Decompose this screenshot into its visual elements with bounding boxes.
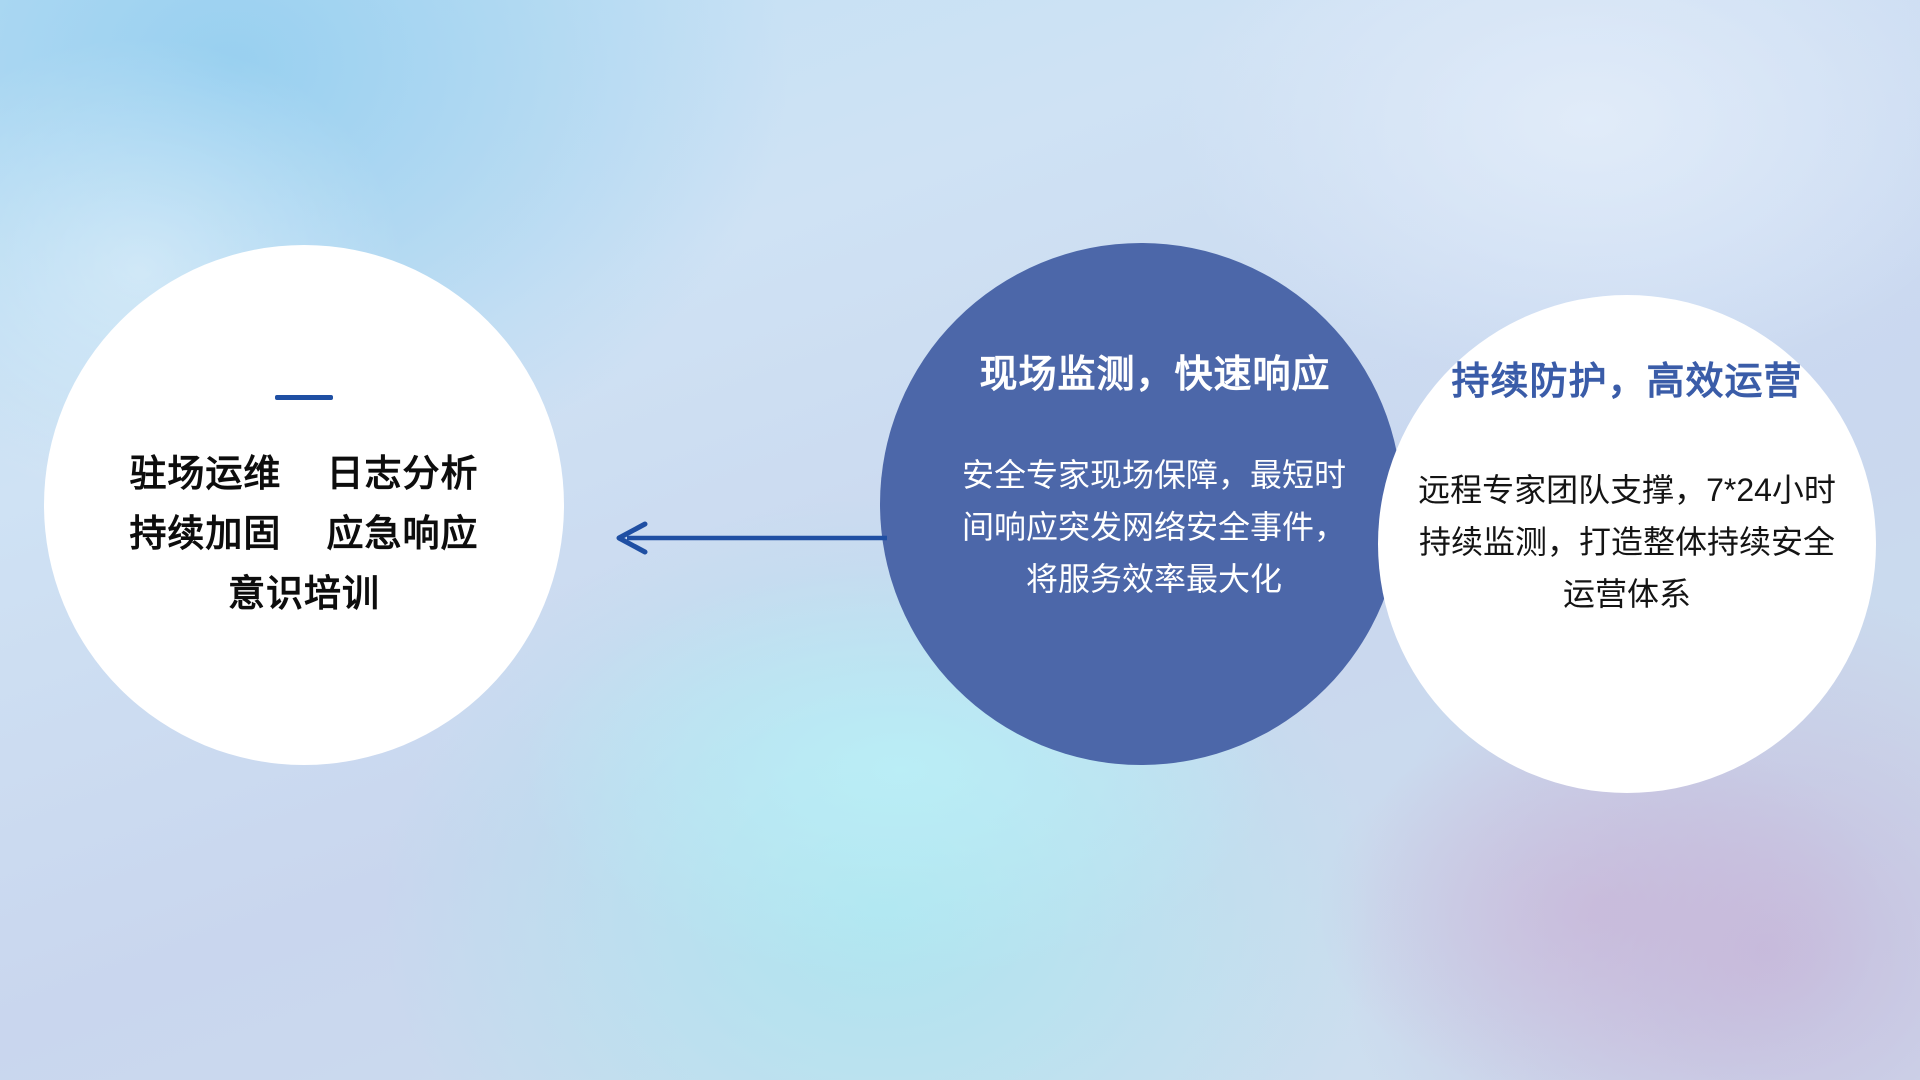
left-circle-keyword-list: 驻场运维 日志分析 持续加固 应急响应 意识培训 [129, 444, 478, 624]
middle-circle-title: 现场监测，快速响应 [875, 343, 1435, 398]
left-keyword-line-1: 驻场运维 日志分析 [129, 444, 478, 504]
left-keyword-line-3: 意识培训 [129, 564, 478, 624]
left-circle-card[interactable]: 驻场运维 日志分析 持续加固 应急响应 意识培训 [44, 245, 564, 765]
right-circle-title: 持续防护，高效运营 [1451, 350, 1802, 405]
slide-canvas: 驻场运维 日志分析 持续加固 应急响应 意识培训 现场监测，快速响应 安全专家现… [0, 0, 1920, 1080]
right-circle-body: 远程专家团队支撑，7*24小时持续监测，打造整体持续安全运营体系 [1412, 465, 1842, 620]
right-circle-card[interactable]: 持续防护，高效运营 远程专家团队支撑，7*24小时持续监测，打造整体持续安全运营… [1378, 295, 1876, 793]
accent-rule-divider [275, 395, 333, 400]
leftward-flow-arrow [605, 520, 890, 556]
middle-circle-body: 安全专家现场保障，最短时间响应突发网络安全事件，将服务效率最大化 [954, 450, 1354, 605]
middle-circle-card[interactable]: 现场监测，快速响应 安全专家现场保障，最短时间响应突发网络安全事件，将服务效率最… [880, 243, 1402, 765]
left-keyword-line-2: 持续加固 应急响应 [129, 504, 478, 564]
